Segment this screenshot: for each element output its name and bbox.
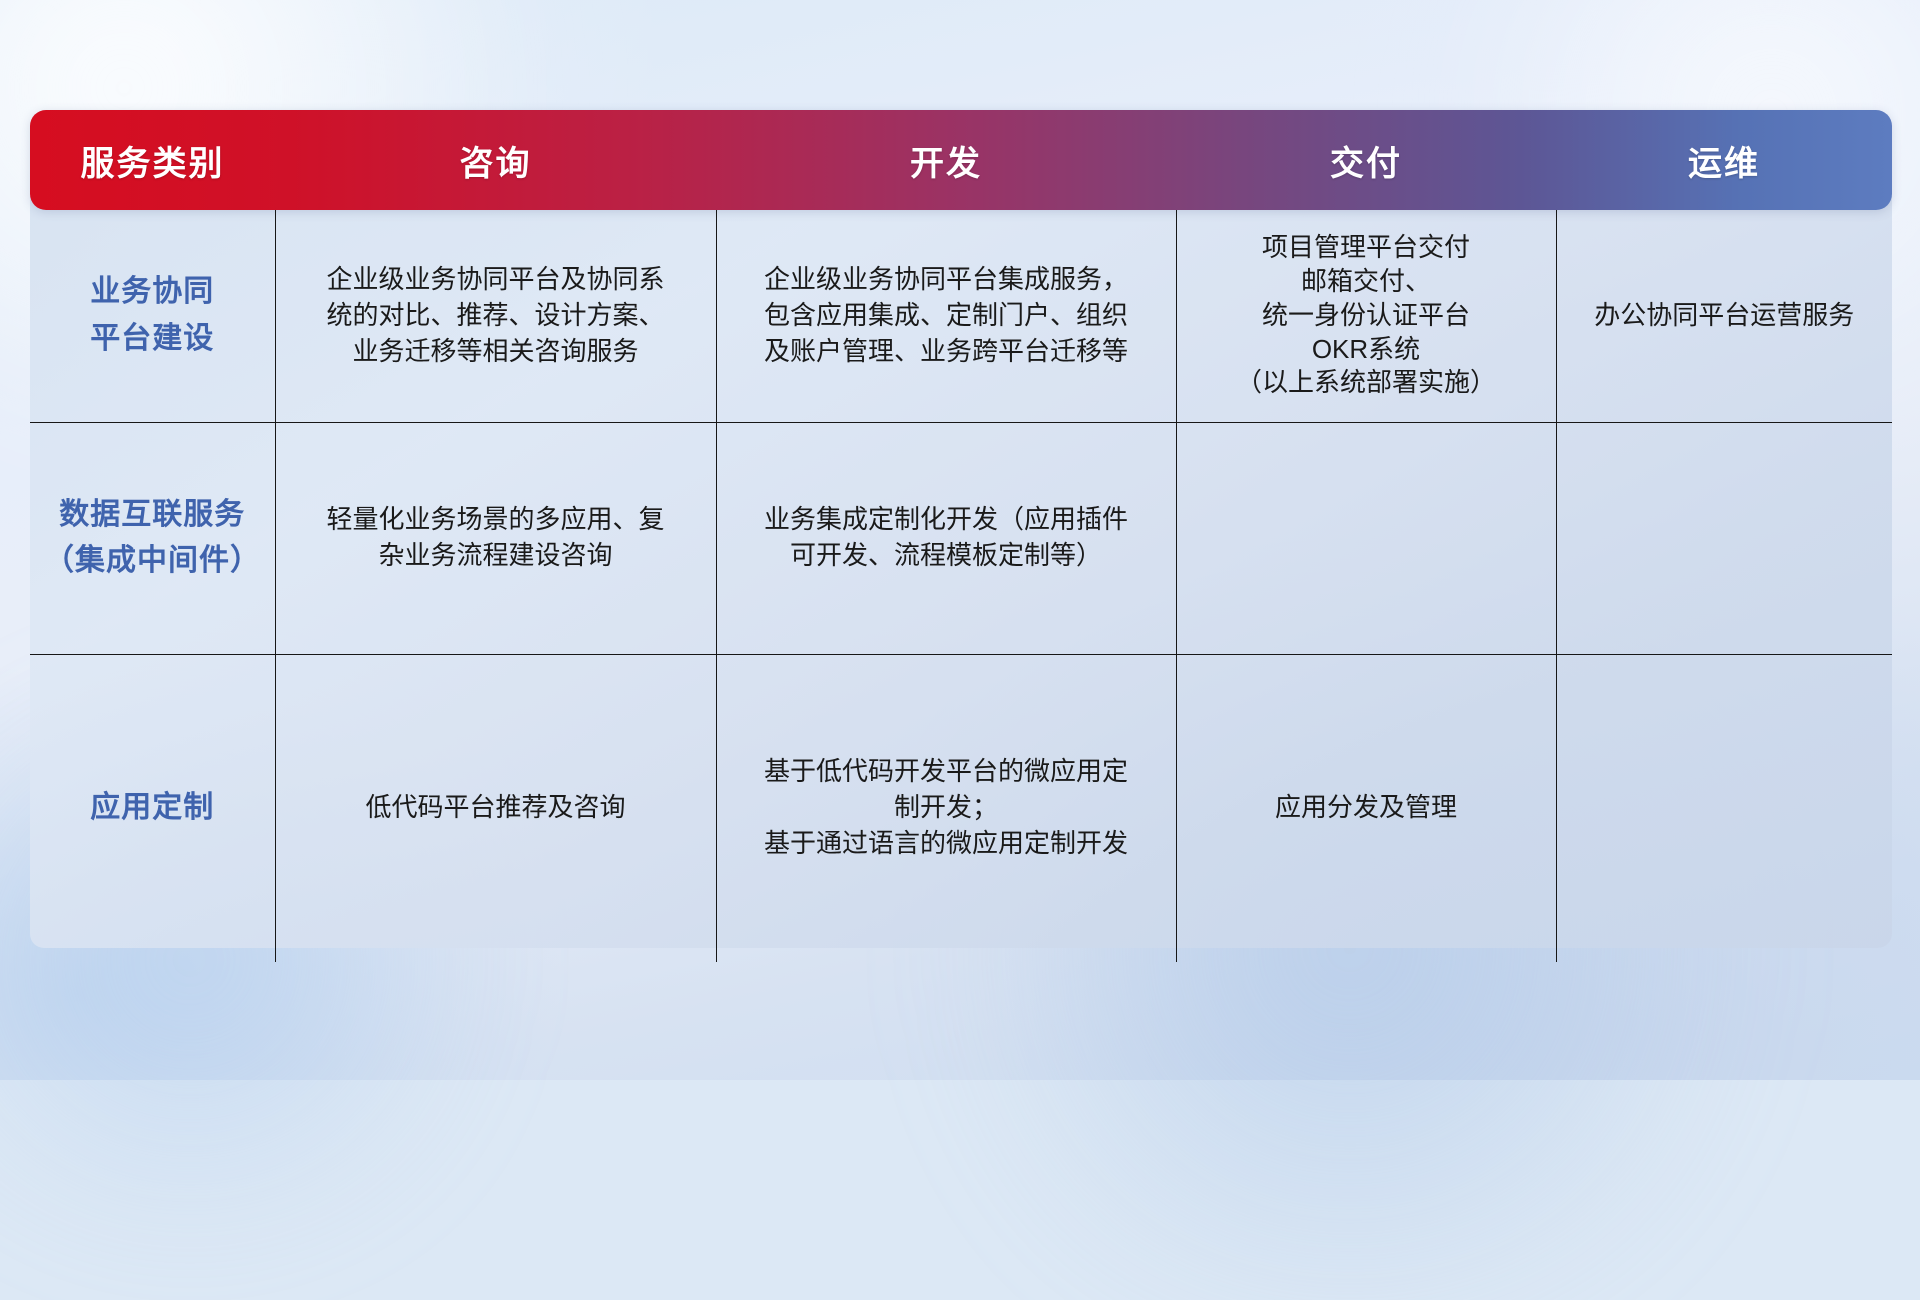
table-header: 服务类别 咨询 开发 交付 运维 xyxy=(30,110,1892,210)
cell-development: 企业级业务协同平台集成服务， 包含应用集成、定制门户、组织 及账户管理、业务跨平… xyxy=(716,210,1176,422)
cell-operations: 办公协同平台运营服务 xyxy=(1556,210,1892,422)
table-header-row: 服务类别 咨询 开发 交付 运维 xyxy=(30,110,1892,210)
cell-development: 基于低代码开发平台的微应用定 制开发； 基于通过语言的微应用定制开发 xyxy=(716,654,1176,962)
cell-operations xyxy=(1556,422,1892,654)
cell-consulting: 轻量化业务场景的多应用、复 杂业务流程建设咨询 xyxy=(275,422,716,654)
cell-consulting: 低代码平台推荐及咨询 xyxy=(275,654,716,962)
row-category-label: 数据互联服务 （集成中间件） xyxy=(30,422,275,654)
column-header-development: 开发 xyxy=(716,110,1176,210)
cell-operations xyxy=(1556,654,1892,962)
service-matrix: 服务类别 咨询 开发 交付 运维 业务协同 平台建设 企业级业务协同平台及协同系… xyxy=(30,110,1892,962)
service-matrix-table: 服务类别 咨询 开发 交付 运维 业务协同 平台建设 企业级业务协同平台及协同系… xyxy=(30,110,1892,962)
column-header-delivery: 交付 xyxy=(1176,110,1556,210)
column-header-operations: 运维 xyxy=(1556,110,1892,210)
cell-delivery: 应用分发及管理 xyxy=(1176,654,1556,962)
cell-development: 业务集成定制化开发（应用插件 可开发、流程模板定制等） xyxy=(716,422,1176,654)
table-body: 业务协同 平台建设 企业级业务协同平台及协同系 统的对比、推荐、设计方案、 业务… xyxy=(30,210,1892,962)
table-row: 业务协同 平台建设 企业级业务协同平台及协同系 统的对比、推荐、设计方案、 业务… xyxy=(30,210,1892,422)
cell-delivery: 项目管理平台交付 邮箱交付、 统一身份认证平台 OKR系统 （以上系统部署实施） xyxy=(1176,210,1556,422)
row-category-label: 业务协同 平台建设 xyxy=(30,210,275,422)
cell-delivery xyxy=(1176,422,1556,654)
column-header-category: 服务类别 xyxy=(30,110,275,210)
row-category-label: 应用定制 xyxy=(30,654,275,962)
table-row: 应用定制 低代码平台推荐及咨询 基于低代码开发平台的微应用定 制开发； 基于通过… xyxy=(30,654,1892,962)
column-header-consulting: 咨询 xyxy=(275,110,716,210)
table-row: 数据互联服务 （集成中间件） 轻量化业务场景的多应用、复 杂业务流程建设咨询 业… xyxy=(30,422,1892,654)
cell-consulting: 企业级业务协同平台及协同系 统的对比、推荐、设计方案、 业务迁移等相关咨询服务 xyxy=(275,210,716,422)
